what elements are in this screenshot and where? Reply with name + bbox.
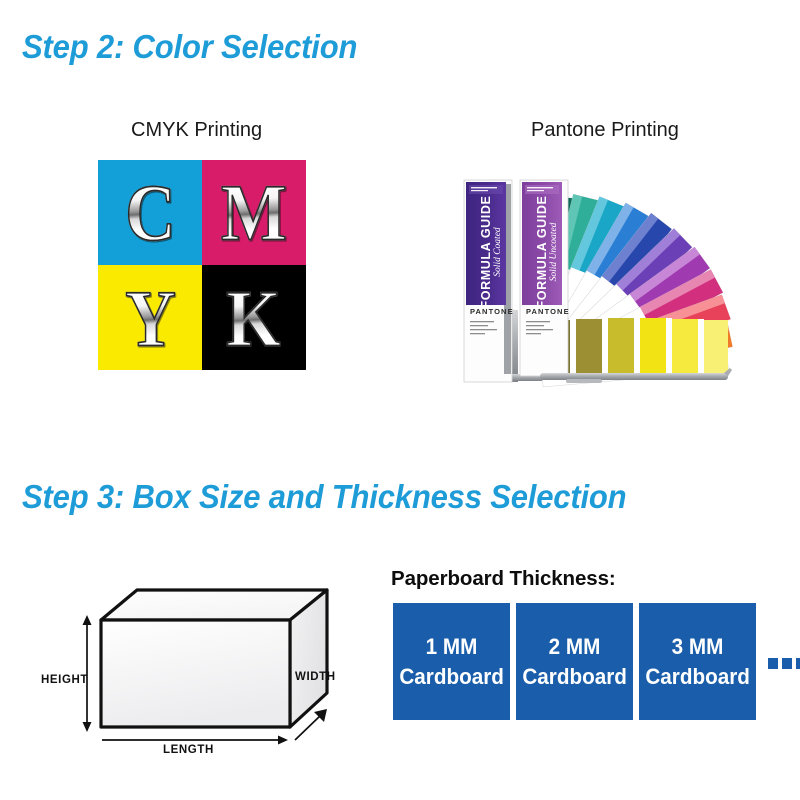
svg-text:PANTONE: PANTONE <box>470 307 514 316</box>
thickness-material-1mm: Cardboard <box>399 662 504 691</box>
cmyk-color-grid[interactable]: C M Y K <box>98 160 306 370</box>
cmyk-letter-y: Y <box>125 278 175 359</box>
thickness-material-2mm: Cardboard <box>522 662 627 691</box>
thickness-card-3mm[interactable]: 3 MM Cardboard <box>639 603 756 720</box>
ellipsis-dot-3 <box>796 658 800 669</box>
cmyk-letter-c: C <box>125 172 175 253</box>
step-2-heading: Step 2: Color Selection <box>22 28 357 66</box>
svg-text:Solid Uncoated: Solid Uncoated <box>549 222 559 281</box>
box-3d-shape <box>101 590 327 727</box>
svg-text:PANTONE: PANTONE <box>526 307 570 316</box>
cmyk-cell-yellow[interactable]: Y <box>98 265 202 370</box>
cmyk-cell-cyan[interactable]: C <box>98 160 202 265</box>
box-dimension-label-length: LENGTH <box>163 744 214 756</box>
thickness-material-3mm: Cardboard <box>645 662 750 691</box>
more-options-ellipsis-icon[interactable] <box>768 658 800 669</box>
ellipsis-dot-2 <box>782 658 792 669</box>
svg-text:FORMULA GUIDE: FORMULA GUIDE <box>479 196 493 309</box>
thickness-value-1mm: 1 MM <box>426 632 478 661</box>
cmyk-letter-m: M <box>221 172 287 253</box>
cmyk-printing-label: CMYK Printing <box>131 119 262 142</box>
thickness-card-1mm[interactable]: 1 MM Cardboard <box>393 603 510 720</box>
pantone-swatch-fan-group: FORMULA GUIDE Solid Uncoated PANTONE <box>520 180 733 387</box>
pantone-fan-deck-image[interactable]: FORMULA GUIDE Solid Coated PANTONE <box>458 168 758 388</box>
cmyk-cell-magenta[interactable]: M <box>202 160 306 265</box>
paperboard-thickness-options: 1 MM Cardboard 2 MM Cardboard 3 MM Cardb… <box>393 603 800 720</box>
paperboard-thickness-title: Paperboard Thickness: <box>391 567 616 591</box>
ellipsis-dot-1 <box>768 658 778 669</box>
cmyk-letter-k: K <box>227 278 281 359</box>
thickness-value-2mm: 2 MM <box>549 632 601 661</box>
pantone-printing-label: Pantone Printing <box>531 119 679 142</box>
svg-text:FORMULA GUIDE: FORMULA GUIDE <box>535 196 549 309</box>
step-3-heading: Step 3: Box Size and Thickness Selection <box>22 478 626 516</box>
svg-text:Solid Coated: Solid Coated <box>493 227 503 277</box>
box-dimension-label-height: HEIGHT <box>41 674 88 686</box>
box-dimension-label-width: WIDTH <box>295 671 336 683</box>
cmyk-cell-black[interactable]: K <box>202 265 306 370</box>
thickness-value-3mm: 3 MM <box>672 632 724 661</box>
thickness-card-2mm[interactable]: 2 MM Cardboard <box>516 603 633 720</box>
pantone-bottom-tabs <box>544 318 728 374</box>
